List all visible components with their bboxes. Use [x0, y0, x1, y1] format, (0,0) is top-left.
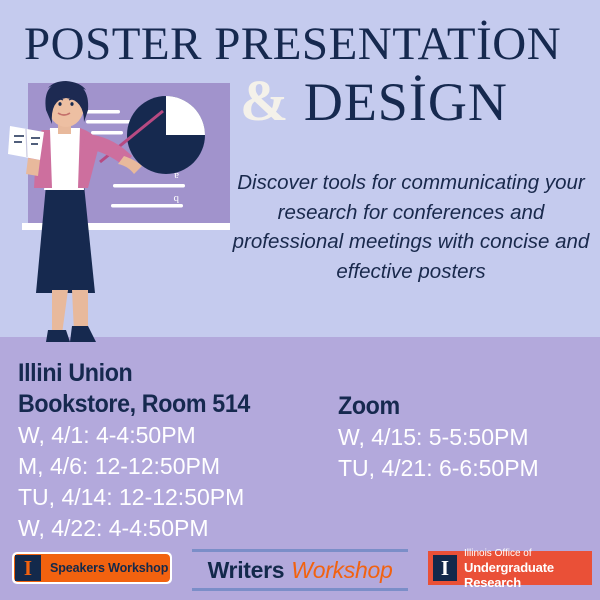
poster-title-design: DESİGN: [304, 72, 508, 132]
workshop-word: Workshop: [291, 557, 392, 584]
footer-logo-bar: I Speakers Workshop Writers Workshop I I…: [0, 548, 600, 594]
block-i-glyph: I: [441, 558, 449, 579]
svg-text:b: b: [173, 193, 179, 205]
speakers-workshop-label: Speakers Workshop: [50, 561, 168, 575]
session-time: W, 4/1: 4-4:50PM: [18, 420, 338, 451]
logo-undergraduate-research[interactable]: I Illinois Office of Undergraduate Resea…: [428, 551, 592, 585]
session-time: M, 4/6: 12-12:50PM: [18, 451, 338, 482]
location-heading-zoom: Zoom: [338, 391, 580, 422]
schedule-column-zoom: Zoom W, 4/15: 5-5:50PM TU, 4/21: 6-6:50P…: [338, 391, 598, 484]
schedule-column-illini-union: Illini Union Bookstore, Room 514 W, 4/1:…: [18, 358, 338, 544]
illustration-woman-presenting: a b: [0, 80, 230, 350]
session-time: W, 4/22: 4-4:50PM: [18, 513, 338, 544]
session-time: TU, 4/21: 6-6:50PM: [338, 453, 598, 484]
poster-canvas: a b: [0, 0, 600, 600]
writers-rule-bottom: [192, 588, 408, 591]
block-i-glyph: I: [24, 558, 32, 579]
location-heading-line-1: Illini Union: [18, 358, 316, 389]
ugr-line-1: Illinois Office of: [464, 547, 592, 560]
poster-title-line-1: POSTER PRESENTATİON: [24, 17, 584, 71]
logo-speakers-workshop[interactable]: I Speakers Workshop: [12, 552, 172, 584]
illinois-block-i-icon: I: [433, 555, 457, 581]
writers-word: Writers: [208, 557, 285, 584]
poster-title-line-2: & DESİGN: [240, 70, 600, 133]
location-heading-line-2: Bookstore, Room 514: [18, 389, 316, 420]
writers-workshop-wordmark: Writers Workshop: [192, 552, 408, 588]
logo-writers-workshop[interactable]: Writers Workshop: [192, 549, 408, 591]
speakers-workshop-pill: I Speakers Workshop: [14, 554, 170, 582]
session-time: TU, 4/14: 12-12:50PM: [18, 482, 338, 513]
session-time: W, 4/15: 5-5:50PM: [338, 422, 598, 453]
illinois-block-i-icon: I: [15, 555, 41, 581]
ugr-wordmark: Illinois Office of Undergraduate Researc…: [464, 547, 592, 590]
poster-subtitle: Discover tools for communicating your re…: [228, 168, 594, 286]
ampersand-glyph: &: [240, 68, 289, 133]
ugr-line-2: Undergraduate Research: [464, 560, 592, 590]
